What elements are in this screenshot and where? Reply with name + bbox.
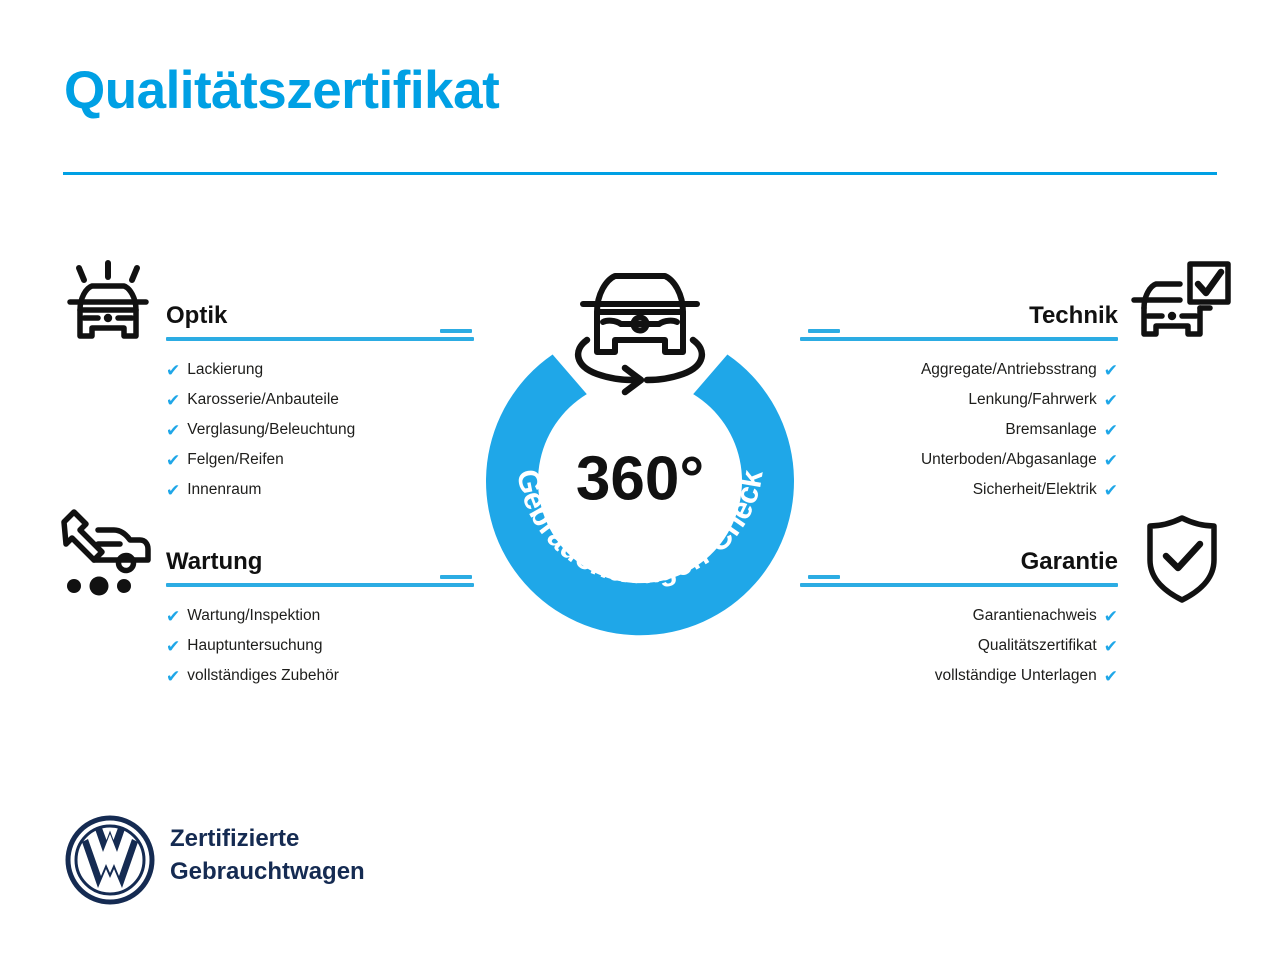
checklist-item: ✔Wartung/Inspektion bbox=[166, 601, 474, 631]
check-icon: ✔ bbox=[166, 608, 180, 625]
check-icon: ✔ bbox=[166, 362, 180, 379]
shield-check-icon bbox=[1142, 512, 1222, 604]
checklist-item: Qualitätszertifikat✔ bbox=[800, 631, 1118, 661]
section-optik: Optik ✔Lackierung✔Karosserie/Anbauteile✔… bbox=[166, 303, 474, 505]
check-icon: ✔ bbox=[166, 668, 180, 685]
volkswagen-logo bbox=[62, 812, 158, 908]
checklist-item-label: Aggregate/Antriebsstrang bbox=[921, 355, 1097, 385]
checklist-item-label: Bremsanlage bbox=[1005, 415, 1096, 445]
title-divider bbox=[63, 172, 1217, 175]
checklist-item: ✔Hauptuntersuchung bbox=[166, 631, 474, 661]
checklist-item: Unterboden/Abgasanlage✔ bbox=[800, 445, 1118, 475]
footer-line-1: Zertifizierte bbox=[170, 822, 365, 855]
page-title: Qualitätszertifikat bbox=[64, 62, 499, 120]
section-heading-garantie: Garantie bbox=[800, 549, 1118, 575]
checklist-item-label: Verglasung/Beleuchtung bbox=[187, 415, 355, 445]
car-service-tool-icon bbox=[58, 508, 154, 600]
check-icon: ✔ bbox=[1104, 452, 1118, 469]
certificate-page: Qualitätszertifikat bbox=[0, 0, 1280, 960]
section-divider-optik bbox=[166, 337, 474, 341]
checklist-item: Bremsanlage✔ bbox=[800, 415, 1118, 445]
checklist-item: Lenkung/Fahrwerk✔ bbox=[800, 385, 1118, 415]
check-icon: ✔ bbox=[1104, 392, 1118, 409]
checklist-item-label: Lenkung/Fahrwerk bbox=[968, 385, 1096, 415]
checklist-item-label: vollständige Unterlagen bbox=[935, 661, 1097, 691]
car-shine-icon bbox=[62, 258, 154, 350]
checklist-item: vollständige Unterlagen✔ bbox=[800, 661, 1118, 691]
check-icon: ✔ bbox=[166, 452, 180, 469]
check-icon: ✔ bbox=[166, 422, 180, 439]
checklist-item-label: Innenraum bbox=[187, 475, 261, 505]
checklist-item-label: Unterboden/Abgasanlage bbox=[921, 445, 1097, 475]
checklist-item: ✔vollständiges Zubehör bbox=[166, 661, 474, 691]
checklist-optik: ✔Lackierung✔Karosserie/Anbauteile✔Vergla… bbox=[166, 355, 474, 505]
checklist-item-label: Hauptuntersuchung bbox=[187, 631, 322, 661]
checklist-item-label: Karosserie/Anbauteile bbox=[187, 385, 339, 415]
checklist-item: Sicherheit/Elektrik✔ bbox=[800, 475, 1118, 505]
badge-center-text: 360° bbox=[576, 444, 704, 513]
section-heading-optik: Optik bbox=[166, 303, 474, 329]
checklist-item-label: Sicherheit/Elektrik bbox=[973, 475, 1097, 505]
checklist-item: ✔Lackierung bbox=[166, 355, 474, 385]
checklist-item-label: Felgen/Reifen bbox=[187, 445, 284, 475]
checklist-item: Garantienachweis✔ bbox=[800, 601, 1118, 631]
section-divider-technik bbox=[800, 337, 1118, 341]
footer-line-2: Gebrauchtwagen bbox=[170, 855, 365, 888]
car-checkbox-icon bbox=[1128, 258, 1232, 350]
checklist-item: ✔Innenraum bbox=[166, 475, 474, 505]
checklist-item: ✔Felgen/Reifen bbox=[166, 445, 474, 475]
section-garantie: Garantie Garantienachweis✔Qualitätszerti… bbox=[800, 549, 1118, 691]
check-icon: ✔ bbox=[1104, 638, 1118, 655]
section-divider-wartung bbox=[166, 583, 474, 587]
checklist-item-label: vollständiges Zubehör bbox=[187, 661, 339, 691]
checklist-item-label: Qualitätszertifikat bbox=[978, 631, 1097, 661]
checklist-item-label: Wartung/Inspektion bbox=[187, 601, 320, 631]
checklist-technik: Aggregate/Antriebsstrang✔Lenkung/Fahrwer… bbox=[800, 355, 1118, 505]
footer-brand-text: Zertifizierte Gebrauchtwagen bbox=[170, 822, 365, 888]
check-icon: ✔ bbox=[166, 638, 180, 655]
checklist-garantie: Garantienachweis✔Qualitätszertifikat✔vol… bbox=[800, 601, 1118, 691]
section-divider-garantie bbox=[800, 583, 1118, 587]
check-icon: ✔ bbox=[1104, 668, 1118, 685]
check-icon: ✔ bbox=[1104, 362, 1118, 379]
checklist-item: ✔Karosserie/Anbauteile bbox=[166, 385, 474, 415]
check-icon: ✔ bbox=[166, 482, 180, 499]
check-icon: ✔ bbox=[1104, 482, 1118, 499]
section-technik: Technik Aggregate/Antriebsstrang✔Lenkung… bbox=[800, 303, 1118, 505]
checklist-item: Aggregate/Antriebsstrang✔ bbox=[800, 355, 1118, 385]
360-gebrauchtwagen-check-badge: Gebrauchtwagen-Check 360° bbox=[460, 248, 820, 640]
check-icon: ✔ bbox=[1104, 422, 1118, 439]
checklist-item-label: Garantienachweis bbox=[973, 601, 1097, 631]
car-rotate-icon bbox=[578, 276, 702, 392]
section-heading-technik: Technik bbox=[800, 303, 1118, 329]
check-icon: ✔ bbox=[1104, 608, 1118, 625]
checklist-wartung: ✔Wartung/Inspektion✔Hauptuntersuchung✔vo… bbox=[166, 601, 474, 691]
checklist-item-label: Lackierung bbox=[187, 355, 263, 385]
section-heading-wartung: Wartung bbox=[166, 549, 474, 575]
check-icon: ✔ bbox=[166, 392, 180, 409]
checklist-item: ✔Verglasung/Beleuchtung bbox=[166, 415, 474, 445]
section-wartung: Wartung ✔Wartung/Inspektion✔Hauptuntersu… bbox=[166, 549, 474, 691]
